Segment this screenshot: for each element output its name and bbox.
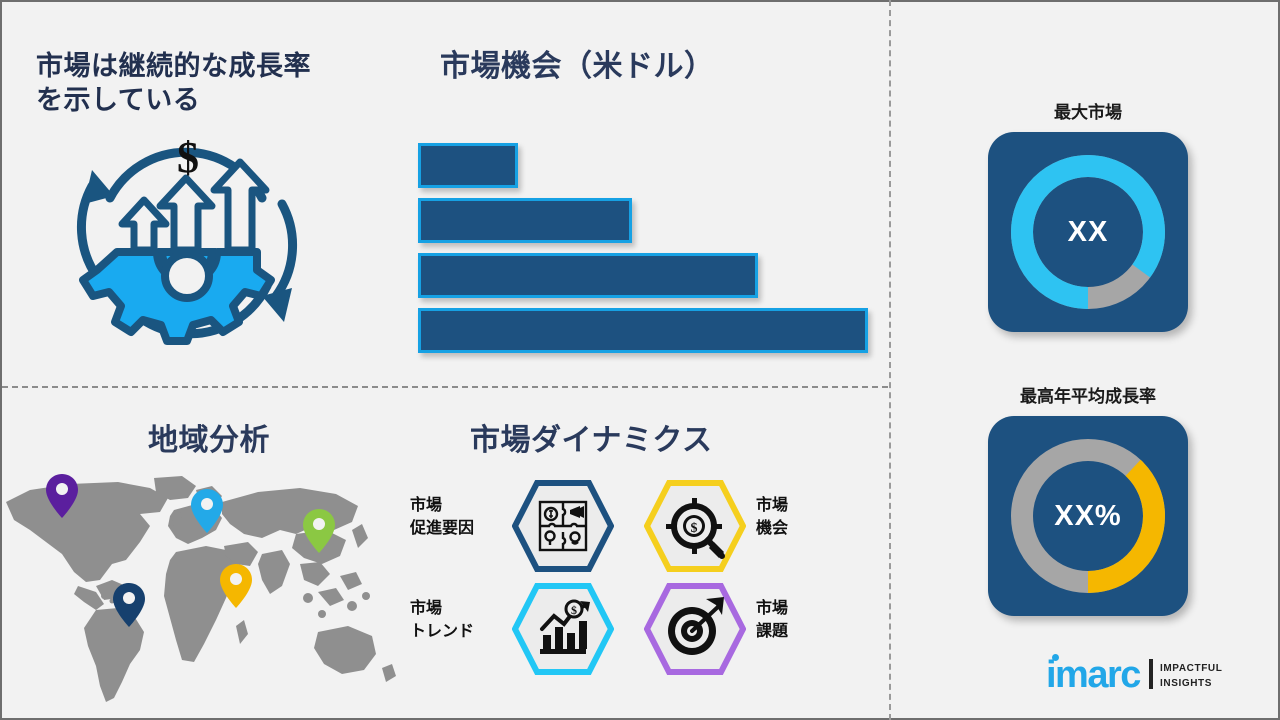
dynamics-section-title: 市場ダイナミクス [470, 422, 830, 460]
puzzle-pieces-icon [512, 480, 614, 572]
bar-row [418, 143, 878, 190]
svg-text:$: $ [177, 133, 199, 182]
dynamics-item-label: 市場 促進要因 [410, 494, 510, 540]
map-pin-south-america[interactable] [112, 582, 146, 628]
highest-cagr-title: 最高年平均成長率 [948, 382, 1228, 407]
dynamics-item-trends[interactable]: 市場 トレンド $ [404, 581, 634, 681]
market-dynamics-grid: 市場 促進要因 [404, 478, 864, 678]
bar-4 [418, 308, 868, 353]
slide-canvas: 市場は継続的な成長率 を示している [0, 0, 1280, 720]
imarc-logo[interactable]: imarc IMPACTFUL INSIGHTS [1046, 652, 1246, 702]
logo-tagline: IMPACTFUL INSIGHTS [1160, 661, 1222, 691]
dynamics-item-challenges[interactable]: 市場 課題 [644, 581, 874, 681]
bar-row [418, 308, 878, 355]
map-pin-north-america[interactable] [45, 473, 79, 519]
largest-market-title: 最大市場 [948, 98, 1228, 123]
bar-row [418, 253, 878, 300]
logo-divider-bar [1149, 659, 1153, 689]
dynamics-item-drivers[interactable]: 市場 促進要因 [404, 478, 634, 578]
horizontal-dashed-divider [2, 386, 888, 388]
bar-2 [418, 198, 632, 243]
map-pin-east-asia[interactable] [302, 508, 336, 554]
regional-section-title: 地域分析 [148, 422, 408, 460]
largest-market-value: XX [988, 132, 1188, 332]
bar-1 [418, 143, 518, 188]
svg-text:$: $ [571, 603, 577, 617]
map-pin-europe[interactable] [190, 488, 224, 534]
highest-cagr-value: XX% [988, 416, 1188, 616]
map-pin-middle-east[interactable] [219, 563, 253, 609]
vertical-dashed-divider [889, 0, 891, 720]
svg-text:$: $ [691, 521, 698, 536]
slide-border-top [0, 0, 1280, 2]
dynamics-item-label: 市場 トレンド [410, 597, 510, 643]
market-opportunity-bar-chart [418, 143, 878, 358]
bar-3 [418, 253, 758, 298]
growth-cycle-gear-icon: $ [62, 126, 312, 366]
bar-chart-growth-icon: $ [512, 583, 614, 675]
dynamics-item-label: 市場 機会 [756, 494, 866, 540]
growth-section-title: 市場は継続的な成長率 を示している [36, 50, 386, 118]
logo-wordmark: imarc [1046, 656, 1140, 694]
bar-row [418, 198, 878, 245]
opportunity-section-title: 市場機会（米ドル） [440, 48, 860, 86]
dynamics-item-opportunities[interactable]: $ 市場 機会 [644, 478, 874, 578]
largest-market-donut: XX [988, 132, 1188, 332]
target-dart-icon [644, 583, 746, 675]
target-search-dollar-icon: $ [644, 480, 746, 572]
dynamics-item-label: 市場 課題 [756, 597, 866, 643]
highest-cagr-donut: XX% [988, 416, 1188, 616]
